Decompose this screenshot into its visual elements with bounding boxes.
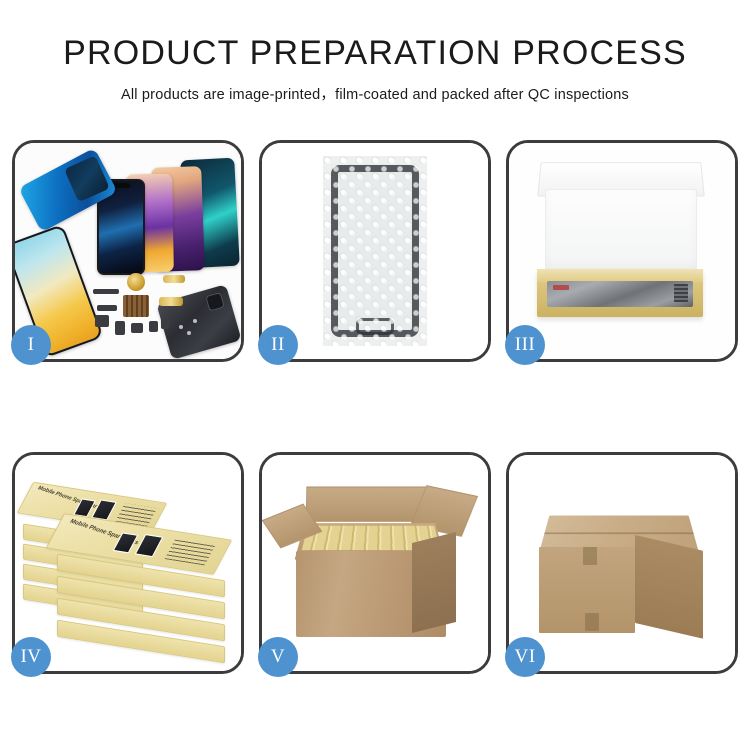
step-badge-4: IV xyxy=(11,637,51,677)
step-6-image xyxy=(509,455,735,671)
header: PRODUCT PREPARATION PROCESS All products… xyxy=(0,0,750,104)
wrapped-screen-in-tray-icon xyxy=(547,281,693,307)
step-panel-5: V xyxy=(259,452,491,674)
step-badge-2: II xyxy=(258,325,298,365)
stacked-boxes-scene: Mobile Phone Spare Parts Mobile Phone Sp… xyxy=(15,455,241,671)
open-kraft-box-scene xyxy=(509,143,735,359)
step-panel-6: VI xyxy=(506,452,738,674)
step-5-image xyxy=(262,455,488,671)
sealed-carton-side-icon xyxy=(635,535,703,639)
product-preparation-process-infographic: PRODUCT PREPARATION PROCESS All products… xyxy=(0,0,750,750)
step-panel-4: Mobile Phone Spare Parts Mobile Phone Sp… xyxy=(12,452,244,674)
step-badge-5: V xyxy=(258,637,298,677)
step-badge-3: III xyxy=(505,325,545,365)
bubble-wrapped-screen-scene xyxy=(262,143,488,359)
page-subtitle: All products are image-printed，film-coat… xyxy=(0,83,750,104)
kraft-tray-icon xyxy=(537,269,703,317)
foam-sheet-icon xyxy=(545,189,697,273)
carton-side-icon xyxy=(412,532,456,633)
box-label-text-1: Mobile Phone Spare Parts xyxy=(36,485,103,511)
carton-flap-back-icon xyxy=(306,487,428,522)
phone-parts-scene xyxy=(15,143,241,359)
step-panel-3: III xyxy=(506,140,738,362)
sealed-carton-scene xyxy=(509,455,735,671)
step-2-image xyxy=(262,143,488,359)
step-badge-6: VI xyxy=(505,637,545,677)
spare-parts-group xyxy=(93,271,213,353)
open-carton-scene xyxy=(262,455,488,671)
step-1-image xyxy=(15,143,241,359)
step-panel-1: I xyxy=(12,140,244,362)
sealed-carton-front-icon xyxy=(539,547,635,633)
bubble-wrap-icon xyxy=(323,156,427,346)
step-4-image: Mobile Phone Spare Parts Mobile Phone Sp… xyxy=(15,455,241,671)
page-title: PRODUCT PREPARATION PROCESS xyxy=(0,34,750,73)
step-panel-2: II xyxy=(259,140,491,362)
process-steps-grid: I II xyxy=(12,140,738,674)
step-3-image xyxy=(509,143,735,359)
box-stack: Mobile Phone Spare Parts Mobile Phone Sp… xyxy=(21,471,233,661)
step-badge-1: I xyxy=(11,325,51,365)
